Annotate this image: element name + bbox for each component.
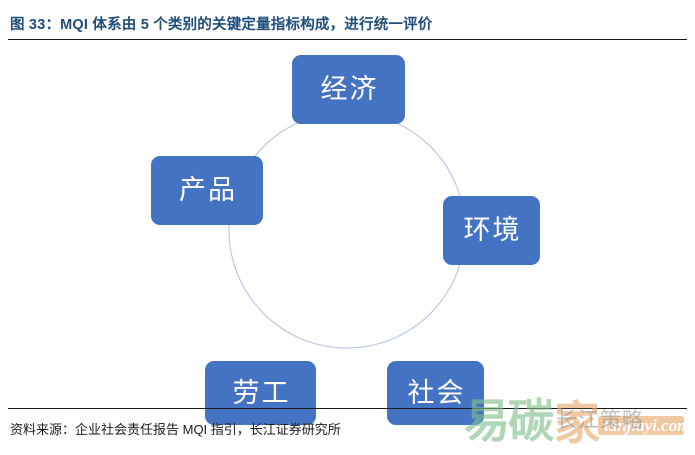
figure-container: 图 33：MQI 体系由 5 个类别的关键定量指标构成，进行统一评价 经济 环境… (0, 0, 695, 455)
cycle-node-label: 社会 (406, 380, 466, 407)
cycle-node-economy[interactable]: 经济 (292, 55, 405, 124)
source-divider (8, 408, 687, 409)
watermark-domain-plate (598, 416, 684, 435)
cycle-node-label: 经济 (319, 76, 379, 103)
cycle-node-label: 环境 (462, 217, 522, 244)
cycle-node-labor[interactable]: 劳工 (205, 361, 316, 425)
figure-title: 图 33：MQI 体系由 5 个类别的关键定量指标构成，进行统一评价 (10, 13, 680, 34)
cycle-node-environment[interactable]: 环境 (443, 196, 540, 265)
cycle-node-label: 劳工 (231, 380, 291, 407)
cycle-node-label: 产品 (177, 177, 237, 204)
cycle-node-product[interactable]: 产品 (151, 156, 263, 225)
figure-source: 资料来源：企业社会责任报告 MQI 指引，长江证券研究所 (10, 419, 341, 438)
cycle-node-society[interactable]: 社会 (387, 361, 484, 425)
watermark-domain: tanjiayi.com (604, 416, 690, 435)
cycle-diagram: 经济 环境 社会 劳工 产品 (0, 40, 695, 408)
